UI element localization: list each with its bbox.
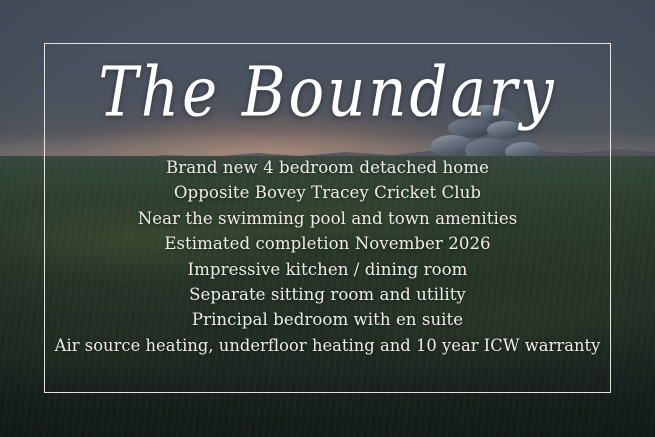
feature-line: Opposite Bovey Tracey Cricket Club xyxy=(48,180,608,205)
feature-line: Principal bedroom with en suite xyxy=(48,307,608,332)
feature-line: Air source heating, underfloor heating a… xyxy=(48,333,608,358)
feature-list: Brand new 4 bedroom detached home Opposi… xyxy=(48,155,608,358)
page-title: The Boundary xyxy=(0,52,655,132)
feature-line: Near the swimming pool and town amenitie… xyxy=(48,206,608,231)
feature-line: Brand new 4 bedroom detached home xyxy=(48,155,608,180)
feature-line: Impressive kitchen / dining room xyxy=(48,257,608,282)
feature-line: Estimated completion November 2026 xyxy=(48,231,608,256)
property-marketing-image: The Boundary Brand new 4 bedroom detache… xyxy=(0,0,655,437)
feature-line: Separate sitting room and utility xyxy=(48,282,608,307)
